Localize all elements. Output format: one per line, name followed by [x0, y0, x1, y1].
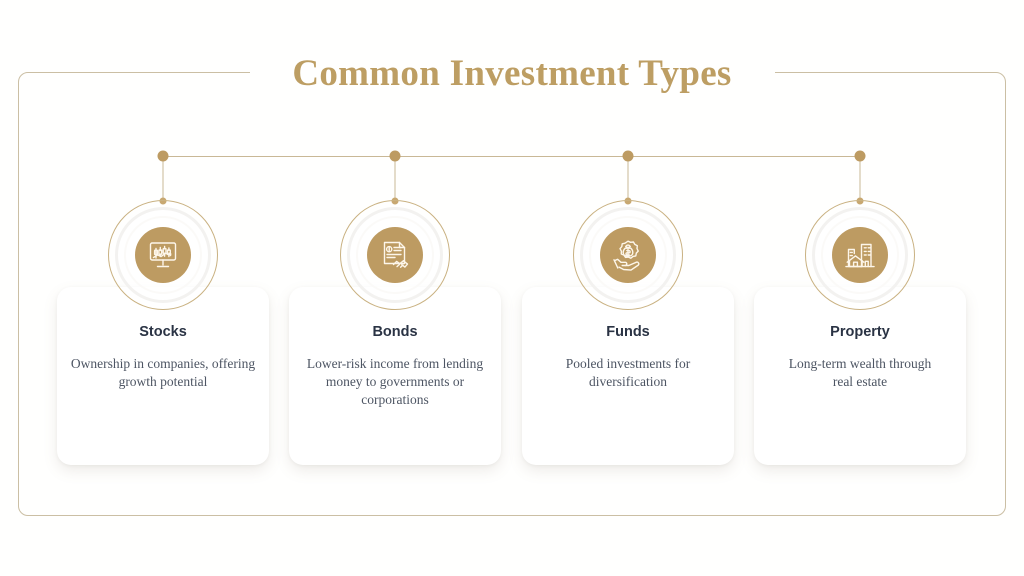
icon-disc: [832, 227, 888, 283]
connector-drop-2: [395, 156, 396, 201]
icon-circle-stocks: [108, 200, 218, 310]
card-description-stocks: Ownership in companies, offering growth …: [63, 355, 263, 391]
page-title: Common Investment Types: [0, 52, 1024, 95]
hand-money-gear-icon: [611, 238, 645, 272]
card-heading-funds: Funds: [522, 324, 734, 340]
stock-chart-monitor-icon: [146, 238, 180, 272]
card-heading-bonds: Bonds: [289, 324, 501, 340]
buildings-real-estate-icon: [843, 238, 877, 272]
connector-node-top-1: [158, 151, 169, 162]
connector-drop-1: [163, 156, 164, 201]
icon-disc: [367, 227, 423, 283]
connector-node-top-3: [623, 151, 634, 162]
card-heading-stocks: Stocks: [57, 324, 269, 340]
card-heading-property: Property: [754, 324, 966, 340]
icon-circle-property: [805, 200, 915, 310]
icon-disc: [600, 227, 656, 283]
contract-handshake-icon: [378, 238, 412, 272]
connector-drop-3: [628, 156, 629, 201]
connector-drop-4: [860, 156, 861, 201]
card-description-property: Long-term wealth through real estate: [785, 355, 935, 391]
slide-canvas: Common Investment Types: [0, 0, 1024, 576]
connector-line: [162, 156, 860, 157]
card-description-bonds: Lower-risk income from lending money to …: [295, 355, 495, 409]
card-description-funds: Pooled investments for diversification: [553, 355, 703, 391]
icon-disc: [135, 227, 191, 283]
connector-node-top-4: [855, 151, 866, 162]
connector-node-top-2: [390, 151, 401, 162]
icon-circle-bonds: [340, 200, 450, 310]
icon-circle-funds: [573, 200, 683, 310]
